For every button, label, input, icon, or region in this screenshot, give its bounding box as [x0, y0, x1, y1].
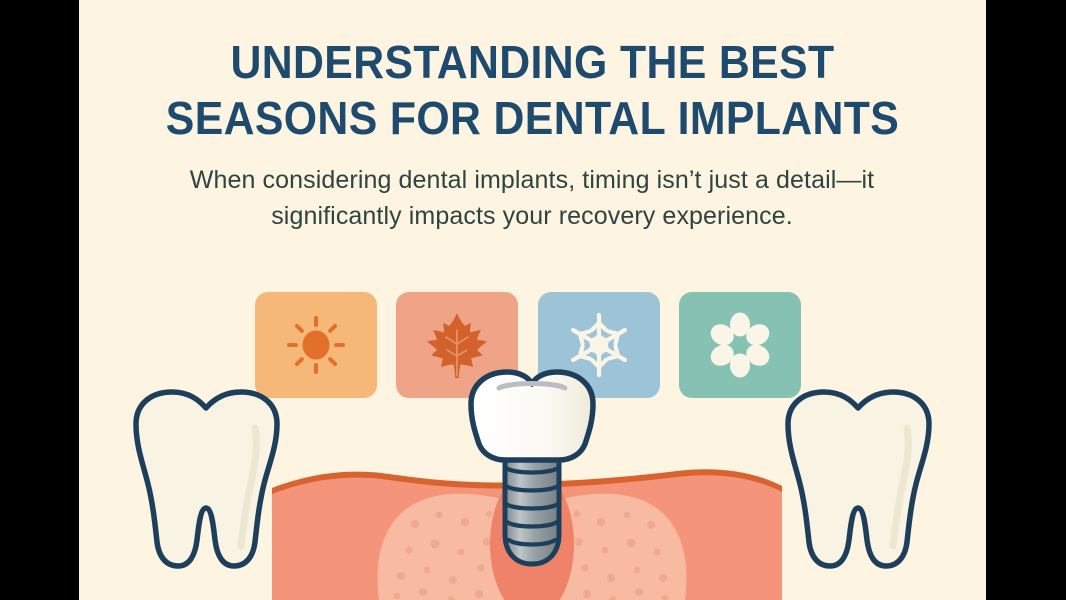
right-molar [788, 392, 929, 566]
infographic-canvas: Understanding the Best Seasons for Denta… [79, 0, 986, 600]
implant-crown [471, 372, 593, 460]
screenshot-stage: Understanding the Best Seasons for Denta… [0, 0, 1066, 600]
left-molar [136, 392, 277, 566]
page-title: Understanding the Best Seasons for Denta… [111, 34, 955, 146]
dental-implant-illustration [79, 368, 986, 600]
letterbox-bar-right [986, 0, 1066, 600]
page-subtitle: When considering dental implants, timing… [182, 162, 882, 234]
letterbox-bar-left [0, 0, 79, 600]
implant-screw-post [505, 454, 559, 564]
